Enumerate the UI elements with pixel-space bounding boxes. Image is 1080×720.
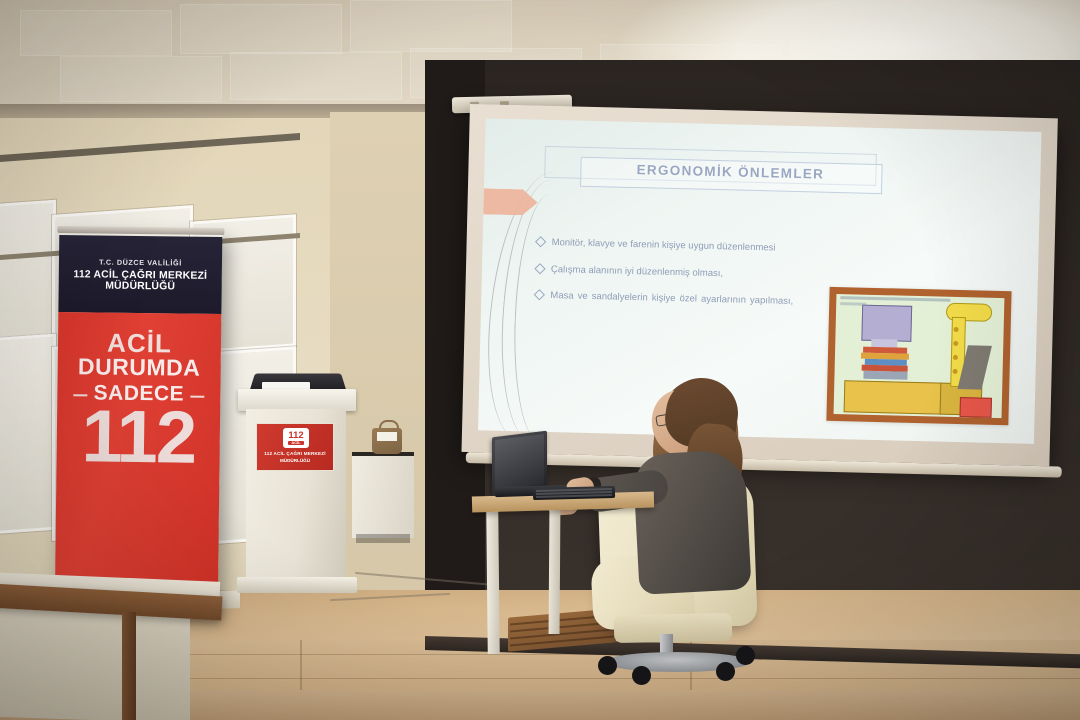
banner-header: T.C. DÜZCE VALİLİĞİ 112 ACİL ÇAĞRI MERKE… [58,235,222,314]
wall-panel [0,200,56,341]
chair-caster [632,666,651,685]
illustration-canvas [834,294,1005,418]
desk-leg [486,508,500,654]
list-item: Monitör, klavye ve farenin kişiye uygun … [534,236,794,257]
foreground-table-leg [122,612,136,720]
bullet-text: Çalışma alanının iyi düzenlenmiş olması, [551,264,723,279]
training-room-photo: ERGONOMİK ÖNLEMLER Monitör, klavye ve fa… [0,0,1080,720]
bullet-text: Monitör, klavye ve farenin kişiye uygun … [552,237,776,253]
rollup-banner: T.C. DÜZCE VALİLİĞİ 112 ACİL ÇAĞRI MERKE… [55,231,223,618]
badge-number: 112 [288,431,303,441]
banner-top-rail [57,226,224,235]
list-item: Masa ve sandalyelerin kişiye özel ayarla… [533,289,793,310]
diamond-bullet-icon [534,263,545,274]
slide-surface: ERGONOMİK ÖNLEMLER Monitör, klavye ve fa… [478,118,1041,443]
banner-header-line1: T.C. DÜZCE VALİLİĞİ [99,257,182,267]
illustration-desk [844,380,943,414]
illustration-keyboard [863,371,907,380]
illustration-monitor [861,305,912,342]
office-chair-base [604,652,750,672]
diamond-bullet-icon [535,236,546,247]
banner-header-line3: MÜDÜRLÜĞÜ [105,280,175,292]
chair-caster [736,646,755,665]
basket-contents [377,432,397,441]
projection-screen: ERGONOMİK ÖNLEMLER Monitör, klavye ve fa… [461,104,1057,466]
slide-bullet-list: Monitör, klavye ve farenin kişiye uygun … [533,236,795,322]
podium-112-badge: 112 ACİL [283,428,309,448]
lectern: 112 ACİL 112 ACİL ÇAĞRI MERKEZİ MÜDÜRLÜĞ… [238,389,356,601]
list-item: Çalışma alanının iyi düzenlenmiş olması, [534,262,794,283]
podium-base [237,577,357,593]
office-chair-seat [614,613,732,643]
external-keyboard[interactable] [533,486,615,500]
podium-sign-line2: MÜDÜRLÜĞÜ [257,458,333,463]
wall-panel [0,334,56,535]
cabinet-shadow [356,534,410,543]
banner-header-line2: 112 ACİL ÇAĞRI MERKEZİ [73,269,207,282]
diamond-bullet-icon [534,290,545,301]
desk-leg [549,506,561,634]
banner-slogan-line2: DURUMDA [58,353,221,382]
badge-sub: ACİL [288,441,303,445]
banner-emergency-number: 112 [56,399,220,475]
chair-caster [716,662,735,681]
podium-sign: 112 ACİL 112 ACİL ÇAĞRI MERKEZİ MÜDÜRLÜĞ… [256,423,334,471]
radiator-cabinet [352,456,414,538]
slide-illustration [826,287,1011,425]
podium-sign-line1: 112 ACİL ÇAĞRI MERKEZİ [257,451,333,456]
laptop-display [495,434,544,490]
chair-caster [598,656,617,675]
illustration-red-box [959,397,991,418]
podium-top-surface [238,389,356,411]
bullet-text: Masa ve sandalyelerin kişiye özel ayarla… [550,290,793,307]
